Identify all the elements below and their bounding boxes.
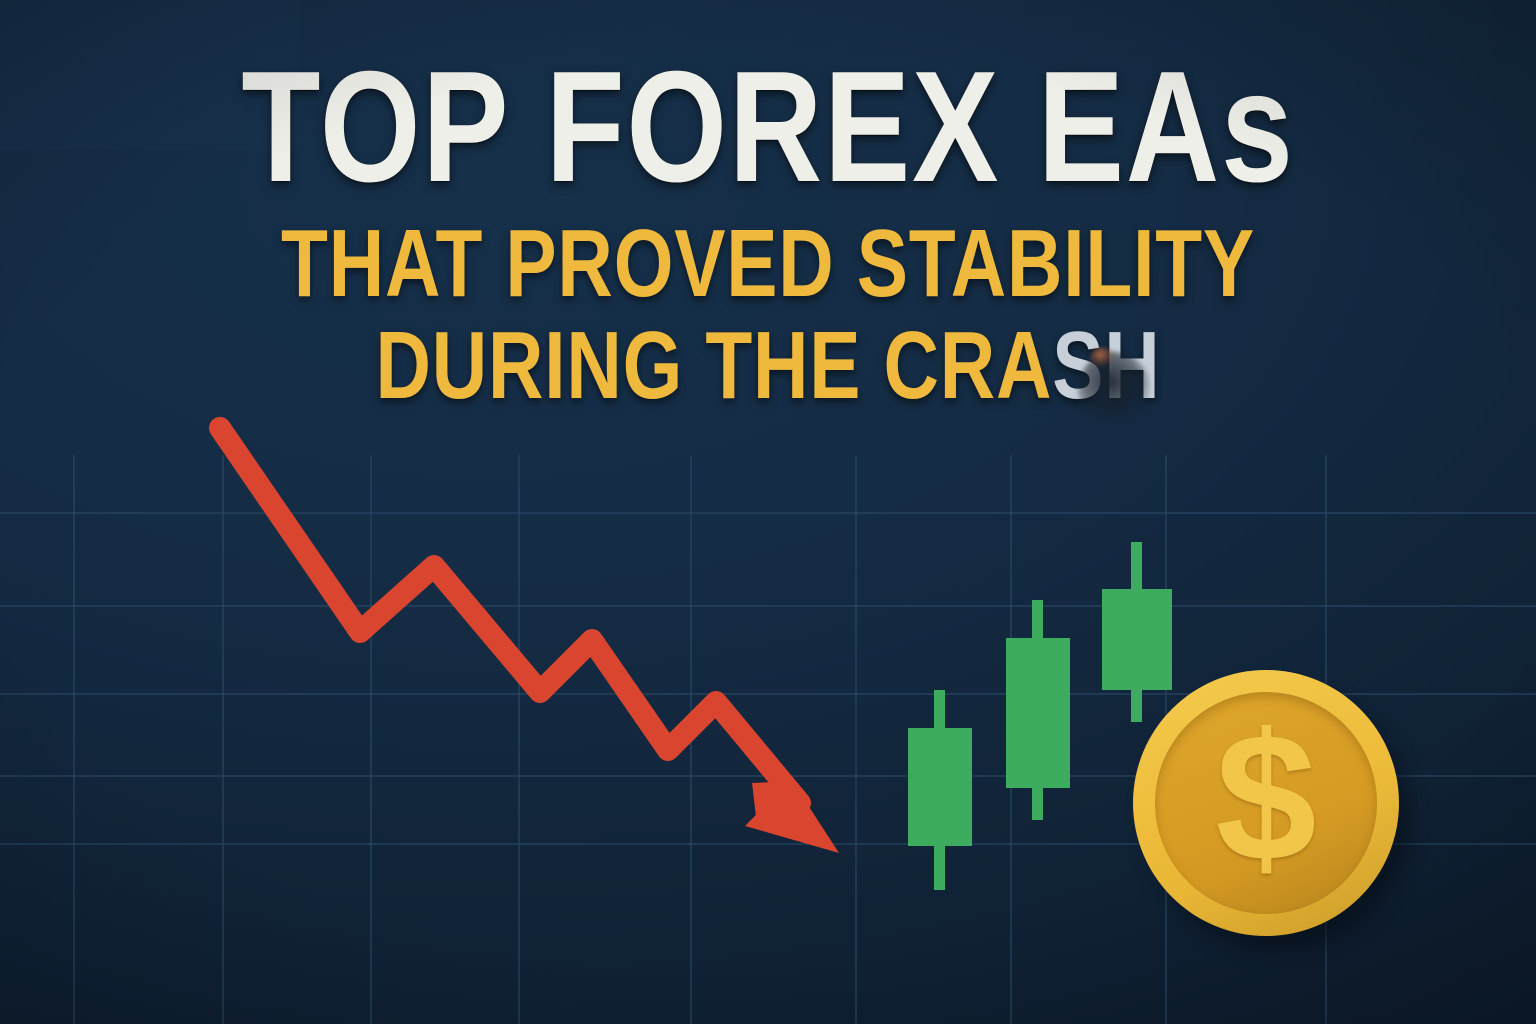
vignette-overlay <box>0 0 1536 1024</box>
poster-canvas: $ TOP FOREX EAs THAT PROVED STABILITY DU… <box>0 0 1536 1024</box>
